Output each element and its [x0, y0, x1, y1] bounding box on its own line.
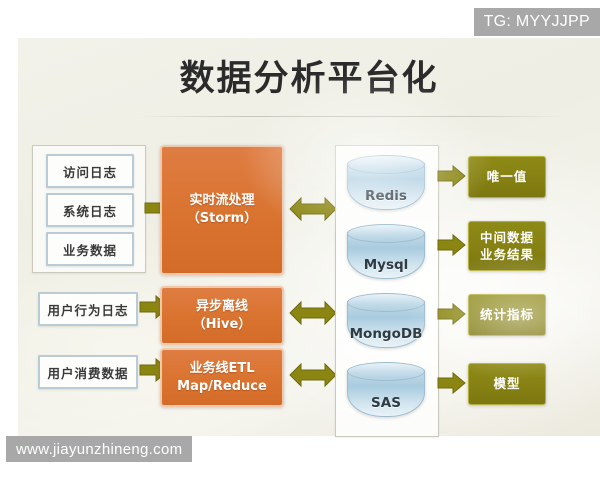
process-label-line1: 实时流处理 [189, 192, 254, 210]
source-label: 用户行为日志 [47, 300, 128, 319]
arrow-etl-to-storage [290, 362, 336, 388]
db-cylinder-redis[interactable]: Redis [347, 155, 425, 210]
arrow-storage-to-model [438, 372, 466, 394]
db-cylinder-mongodb[interactable]: MongoDB [347, 293, 425, 348]
source-label: 业务数据 [63, 240, 117, 259]
source-box-access-log[interactable]: 访问日志 [46, 154, 134, 188]
process-label-line2: （Hive） [193, 316, 252, 334]
watermark-bottom-left: www.jiayunzhineng.com [6, 436, 192, 462]
process-label-line1: 异步离线 [196, 298, 248, 316]
process-label-line2: （Storm） [187, 210, 257, 228]
source-label: 访问日志 [63, 162, 117, 181]
output-label-line1: 统计指标 [480, 306, 534, 324]
db-label: SAS [347, 395, 425, 411]
db-label: MongoDB [347, 326, 425, 342]
slide-canvas: 数据分析平台化 访问日志 系统日志 业务数据 用户行为日志 用户消费数据 [18, 38, 600, 436]
source-box-business-data[interactable]: 业务数据 [46, 232, 134, 266]
cylinder-top [347, 224, 425, 243]
process-label-line1: 业务线ETL [189, 360, 254, 378]
source-box-user-consumption-data[interactable]: 用户消费数据 [38, 355, 138, 389]
cylinder-top [347, 362, 425, 381]
output-label-line1: 唯一值 [487, 168, 528, 186]
process-box-realtime-stream[interactable]: 实时流处理 （Storm） [160, 145, 284, 275]
output-box-unique-value[interactable]: 唯一值 [468, 156, 546, 198]
arrow-storage-to-statistics [438, 303, 466, 325]
source-label: 用户消费数据 [47, 363, 128, 382]
screenshot-root: 数据分析平台化 访问日志 系统日志 业务数据 用户行为日志 用户消费数据 [0, 0, 600, 480]
process-box-business-etl[interactable]: 业务线ETL Map/Reduce [160, 348, 284, 407]
source-box-user-behavior-log[interactable]: 用户行为日志 [38, 292, 138, 326]
db-cylinder-sas[interactable]: SAS [347, 362, 425, 417]
title-divider [136, 116, 566, 117]
db-label: Mysql [347, 257, 425, 273]
arrow-storage-to-intermediate-data [438, 234, 466, 256]
arrow-storm-to-storage [290, 196, 336, 222]
output-box-statistics-indicator[interactable]: 统计指标 [468, 294, 546, 336]
output-box-model[interactable]: 模型 [468, 363, 546, 405]
cylinder-top [347, 155, 425, 174]
cylinder-top [347, 293, 425, 312]
source-label: 系统日志 [63, 201, 117, 220]
output-box-intermediate-data[interactable]: 中间数据 业务结果 [468, 221, 546, 271]
process-label-line2: Map/Reduce [177, 378, 267, 396]
output-label-line2: 业务结果 [480, 246, 534, 264]
output-label-line1: 中间数据 [480, 229, 534, 247]
watermark-top-right: TG: MYYJJPP [474, 8, 600, 36]
arrow-storage-to-unique-value [438, 165, 466, 187]
source-box-system-log[interactable]: 系统日志 [46, 193, 134, 227]
arrow-hive-to-storage [290, 300, 336, 326]
db-cylinder-mysql[interactable]: Mysql [347, 224, 425, 279]
page-title: 数据分析平台化 [18, 50, 600, 101]
output-label-line1: 模型 [493, 375, 520, 393]
db-label: Redis [347, 188, 425, 204]
process-box-async-offline[interactable]: 异步离线 （Hive） [160, 286, 284, 345]
